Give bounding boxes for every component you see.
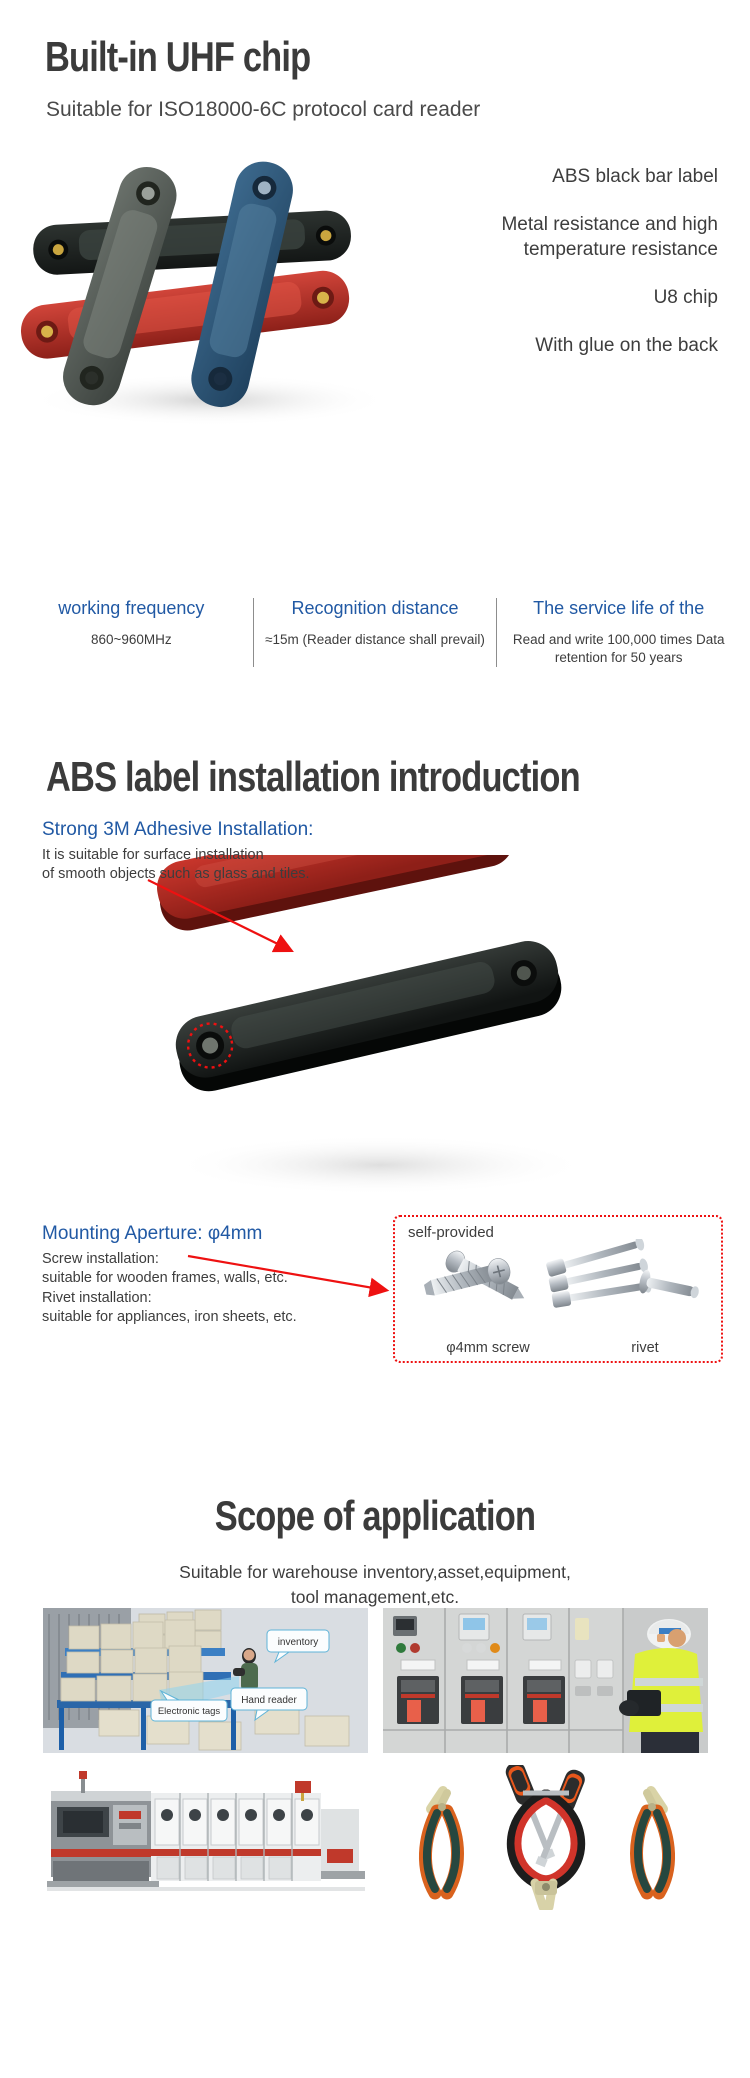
page-title: Built-in UHF chip [45,33,310,81]
spec-value: Read and write 100,000 times Data retent… [503,631,734,667]
note-heading: Mounting Aperture: φ4mm [42,1222,362,1247]
feature-list: ABS black bar label Metal resistance and… [398,165,718,383]
photo-electrical-switchgear [383,1608,708,1753]
note-aperture: Mounting Aperture: φ4mm Screw installati… [42,1222,362,1328]
feature-item: ABS black bar label [398,165,718,189]
svg-text:Hand reader: Hand reader [241,1695,297,1706]
spec-heading: working frequency [16,598,247,620]
photo-warehouse-inventory: inventory Hand reader Electronic tags [43,1608,368,1753]
photo-printing-machine [43,1765,368,1910]
scope-subtitle: Suitable for warehouse inventory,asset,e… [0,1560,750,1609]
switchgear-illustration [383,1608,708,1753]
svg-text:inventory: inventory [278,1637,319,1648]
abs-tags-illustration [10,150,410,440]
screws-and-rivets-illustration [407,1239,707,1334]
spec-recognition-distance: Recognition distance ≈15m (Reader distan… [253,598,497,667]
spec-heading: Recognition distance [260,598,491,620]
photo-hand-tools [383,1765,708,1910]
rivet-caption: rivet [585,1340,705,1356]
product-detail-page: Built-in UHF chip Suitable for ISO18000-… [0,0,750,2078]
spec-heading: The service life of the [503,598,734,620]
screw-caption: φ4mm screw [413,1340,563,1356]
product-hero-image [10,150,410,440]
note-body: It is suitable for surface installation … [42,846,372,885]
section-scope: Scope of application Suitable for wareho… [0,1400,750,2078]
spec-service-life: The service life of the Read and write 1… [496,598,740,667]
feature-item: U8 chip [398,286,718,310]
hardware-box: self-provided [393,1215,723,1363]
installation-tags-image [130,855,640,1225]
scope-title: Scope of application [68,1492,683,1540]
red-black-tags-illustration [130,855,640,1225]
spec-value: 860~960MHz [16,631,247,649]
note-heading: Strong 3M Adhesive Installation: [42,818,372,843]
note-adhesive: Strong 3M Adhesive Installation: It is s… [42,818,372,885]
application-photo-grid: inventory Hand reader Electronic tags [43,1608,708,1910]
svg-text:Electronic tags: Electronic tags [158,1706,221,1717]
printing-machine-illustration [43,1765,368,1910]
note-body: Screw installation: suitable for wooden … [42,1250,362,1328]
section-installation: ABS label installation introduction [0,700,750,1400]
warehouse-illustration: inventory Hand reader Electronic tags [43,1608,368,1753]
feature-item: With glue on the back [398,334,718,358]
section-product: Built-in UHF chip Suitable for ISO18000-… [0,0,750,700]
feature-item: Metal resistance and high temperature re… [398,213,718,262]
spec-value: ≈15m (Reader distance shall prevail) [260,631,491,649]
page-subtitle: Suitable for ISO18000-6C protocol card r… [46,98,480,122]
hand-tools-illustration [383,1765,708,1910]
installation-title: ABS label installation introduction [46,753,580,801]
spec-working-frequency: working frequency 860~960MHz [10,598,253,667]
spec-row: working frequency 860~960MHz Recognition… [10,598,740,667]
